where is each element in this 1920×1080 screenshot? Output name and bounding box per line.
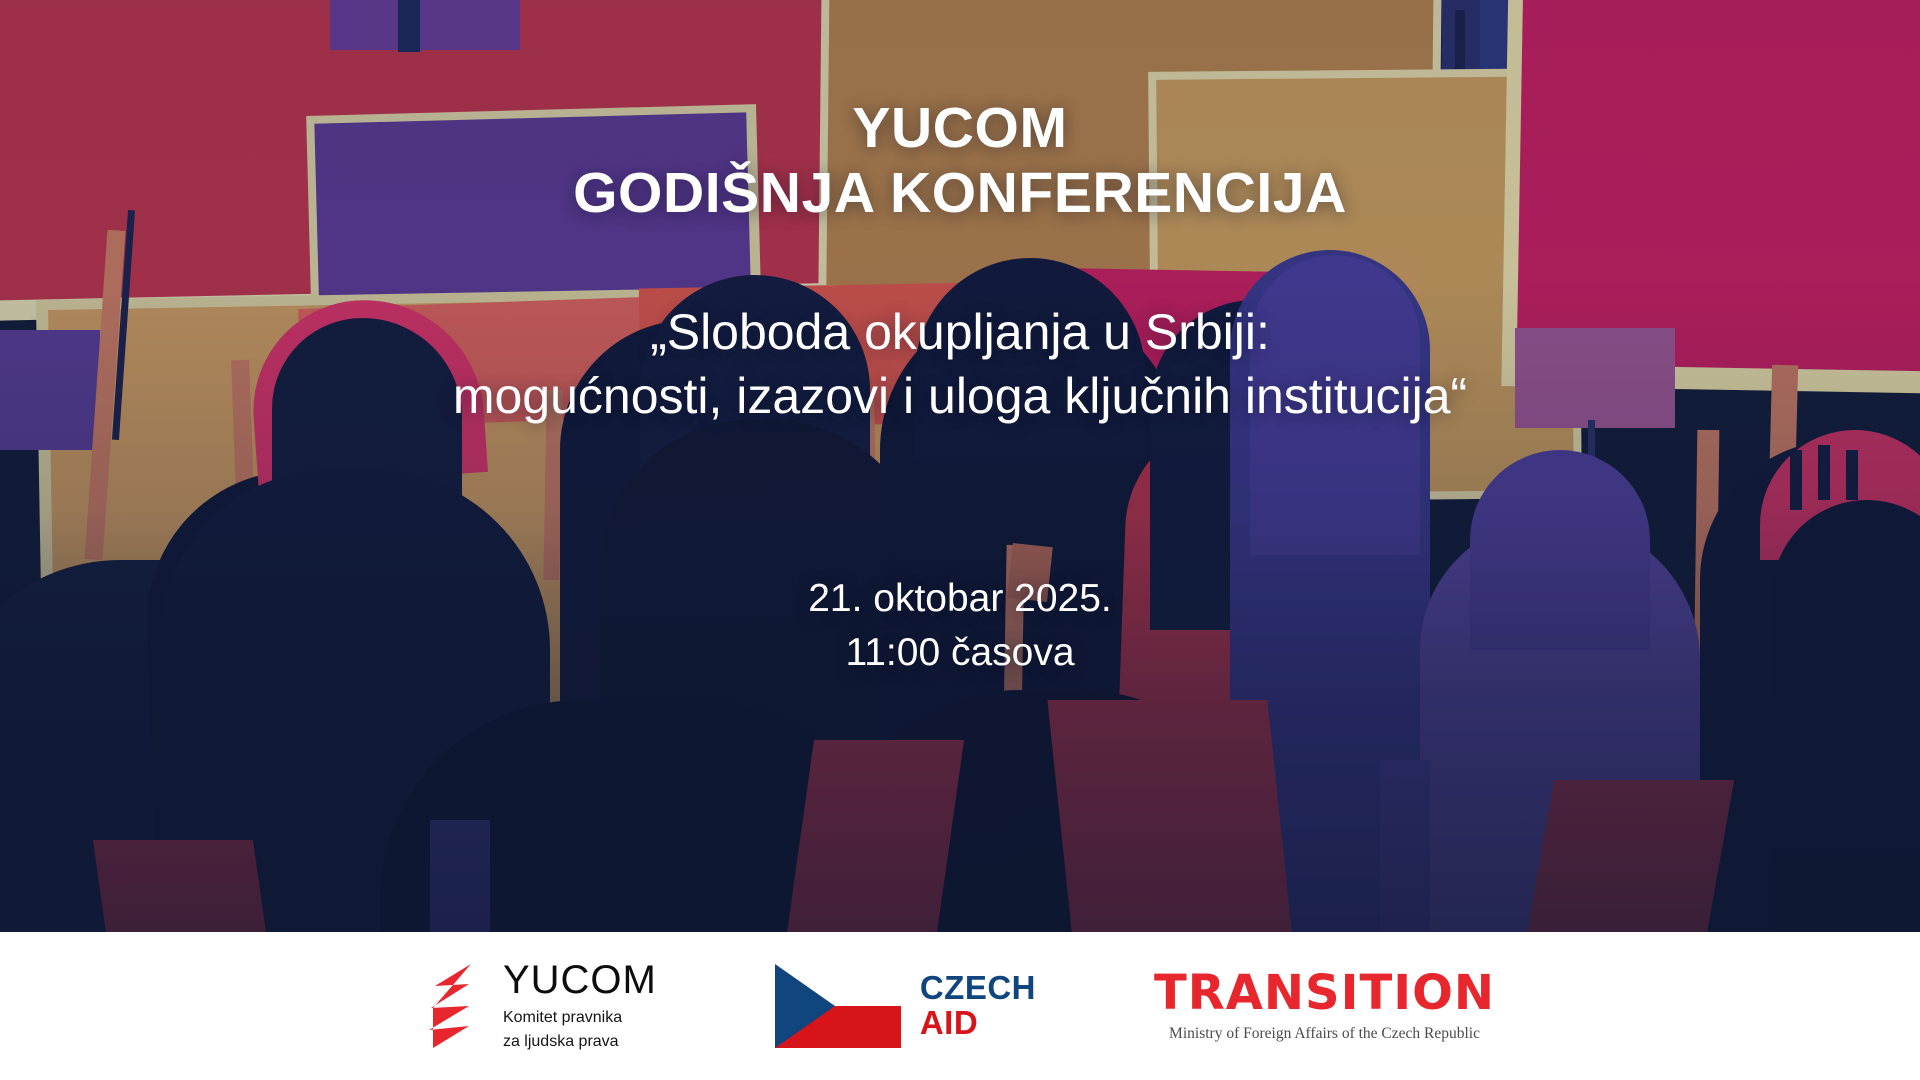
transition-wordmark: TRANSITION — [1154, 969, 1495, 1017]
conference-poster: YUCOM GODIŠNJA KONFERENCIJA „Sloboda oku… — [0, 0, 1920, 1080]
heading-line-2: GODIŠNJA KONFERENCIJA — [573, 161, 1347, 226]
poster-subtitle: „Sloboda okupljanja u Srbiji: mogućnosti… — [453, 300, 1467, 428]
poster-text-block: YUCOM GODIŠNJA KONFERENCIJA „Sloboda oku… — [0, 0, 1920, 932]
subtitle-line-1: „Sloboda okupljanja u Srbiji: — [453, 300, 1467, 364]
yucom-name: YUCOM — [503, 960, 657, 1000]
heading-line-1: YUCOM — [573, 96, 1347, 161]
czech-word: CZECH — [920, 971, 1036, 1006]
yucom-tagline-line-2: za ljudska prava — [503, 1031, 657, 1053]
sponsor-logo-bar: YUCOM Komitet pravnika za ljudska prava … — [0, 932, 1920, 1080]
event-date: 21. oktobar 2025. — [808, 572, 1112, 626]
aid-word: AID — [920, 1006, 1036, 1041]
yucom-logo: YUCOM Komitet pravnika za ljudska prava — [425, 960, 657, 1052]
subtitle-line-2: mogućnosti, izazovi i uloga ključnih ins… — [453, 364, 1467, 428]
transition-ministry-line: Ministry of Foreign Affairs of the Czech… — [1169, 1025, 1480, 1043]
yucom-flag-icon — [425, 962, 487, 1050]
czech-flag-icon — [775, 964, 901, 1048]
yucom-tagline-line-1: Komitet pravnika — [503, 1007, 657, 1029]
czech-aid-wordmark: CZECH AID — [920, 971, 1036, 1040]
czech-aid-logo: CZECH AID — [775, 964, 1036, 1048]
yucom-wordmark: YUCOM Komitet pravnika za ljudska prava — [503, 960, 657, 1052]
event-time: 11:00 časova — [808, 626, 1112, 680]
transition-logo: TRANSITION Ministry of Foreign Affairs o… — [1154, 969, 1495, 1043]
poster-heading: YUCOM GODIŠNJA KONFERENCIJA — [573, 96, 1347, 226]
poster-datetime: 21. oktobar 2025. 11:00 časova — [808, 572, 1112, 680]
